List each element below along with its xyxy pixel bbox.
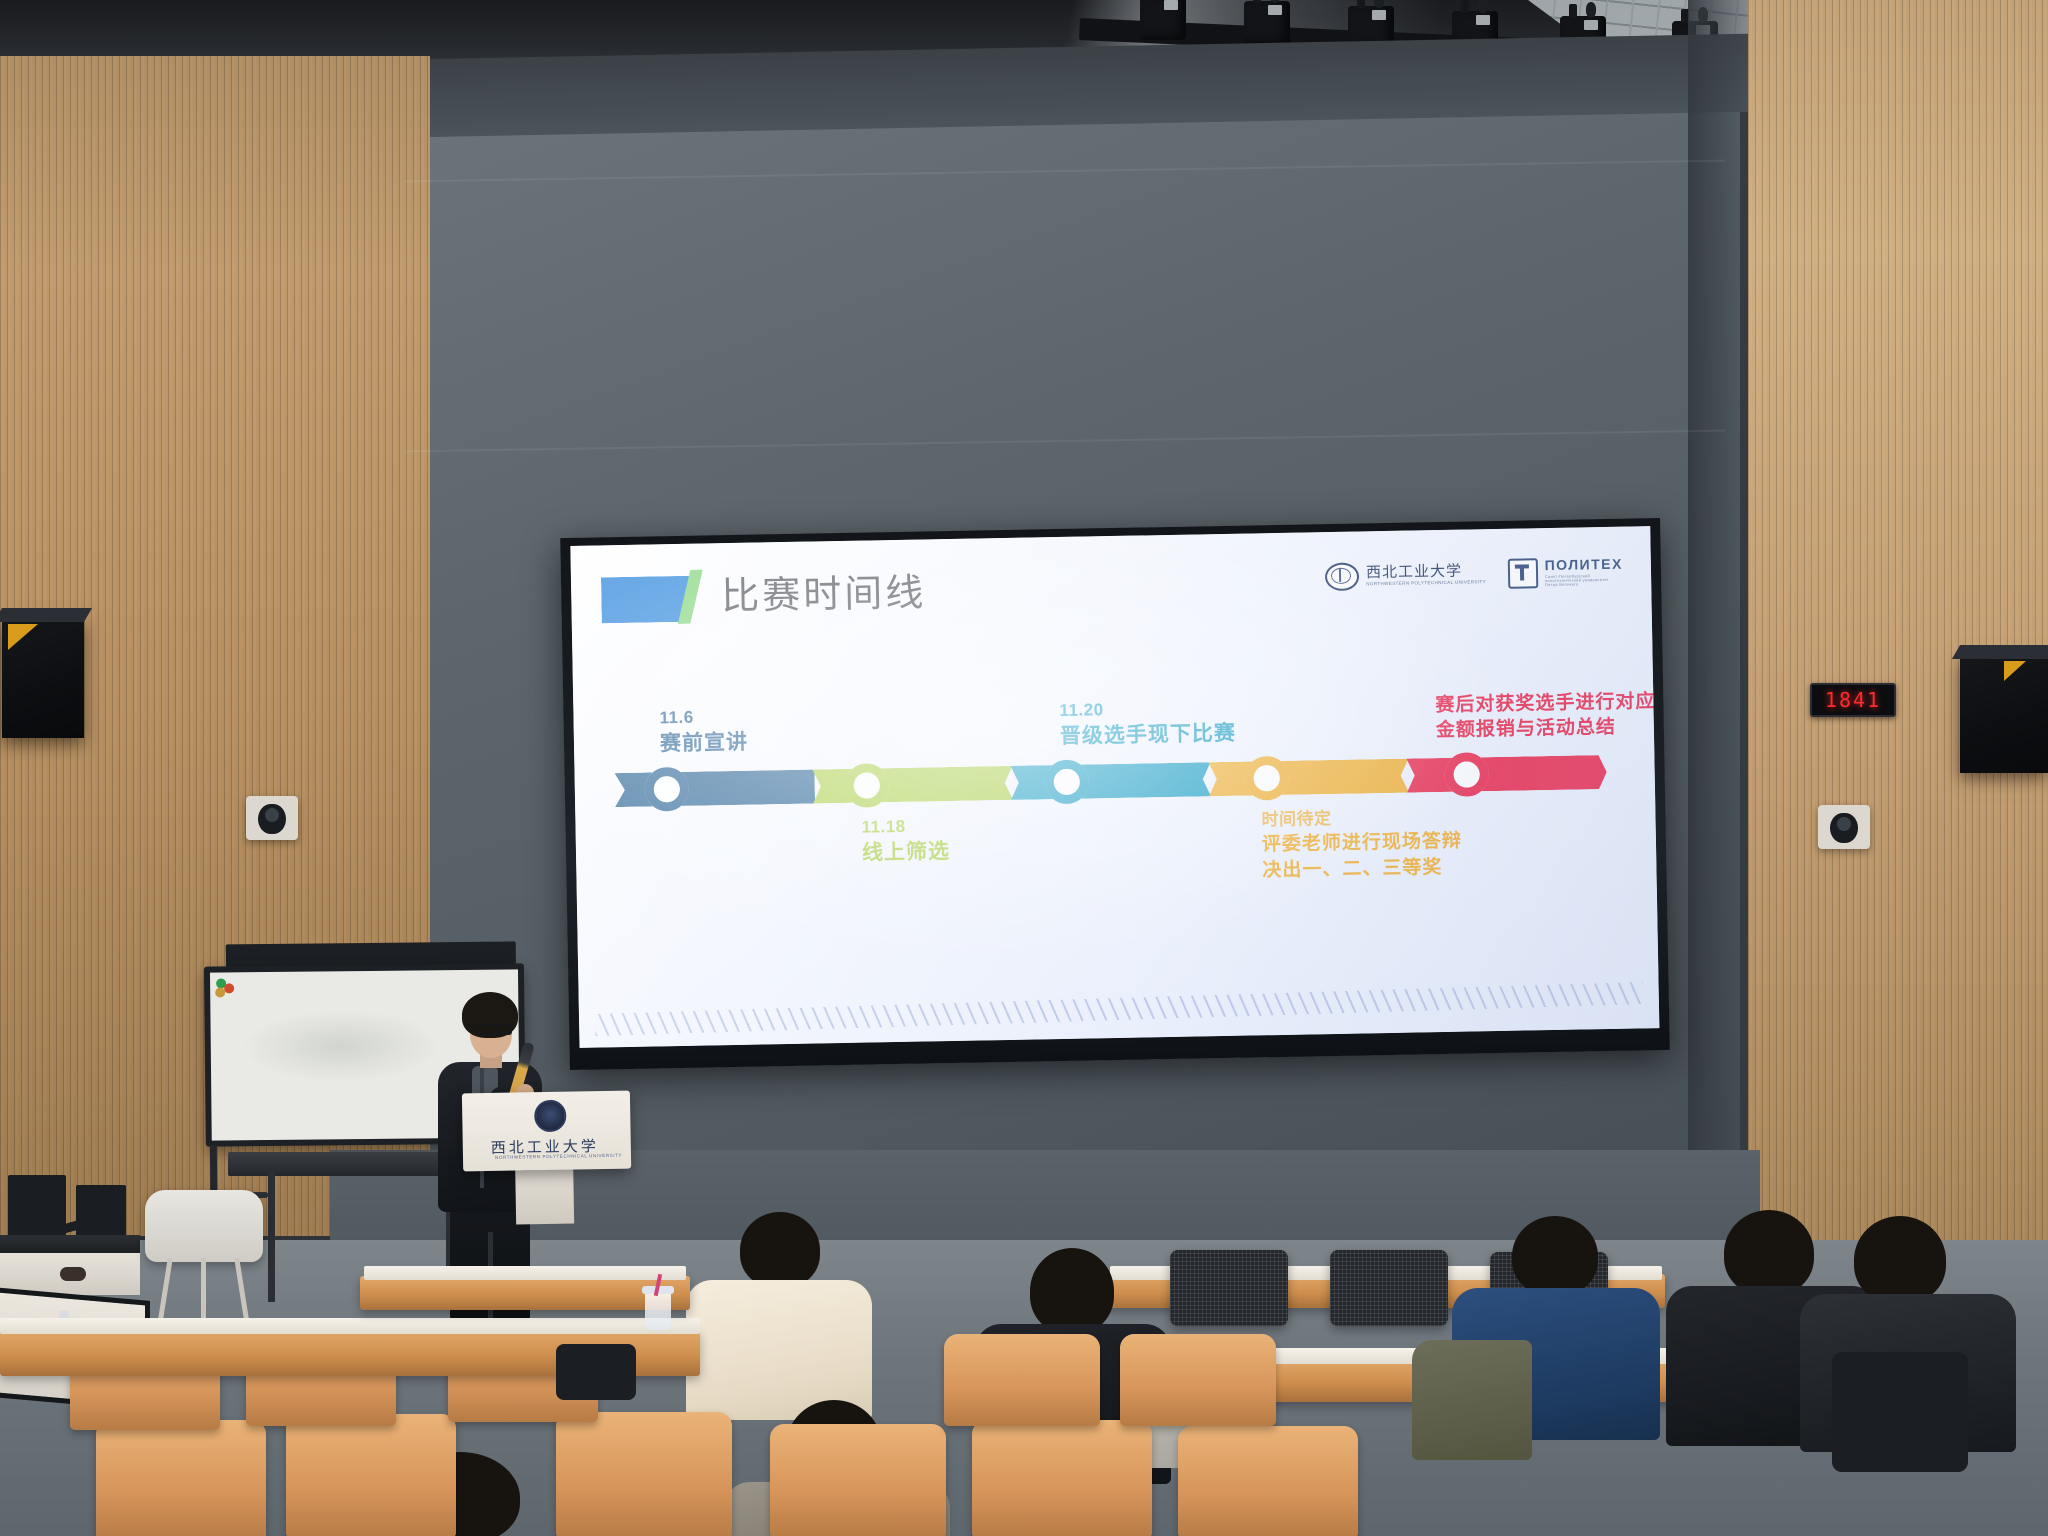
mesh-chair bbox=[1330, 1250, 1448, 1326]
right-wall-shadow bbox=[1688, 0, 1748, 1240]
timeline-description: 赛前宣讲 bbox=[660, 726, 890, 759]
polytech-logo: ПОЛИТЕХ Санкт-Петербургский политехничес… bbox=[1508, 557, 1624, 589]
auditorium-chair bbox=[972, 1420, 1152, 1536]
timeline-milestone: 11.6赛前宣讲 bbox=[659, 703, 890, 758]
slide-footer-hatch-pattern bbox=[595, 982, 1643, 1036]
presentation-slide: 比赛时间线 西北工业大学 NORTHWESTERN POLYTECHNICAL … bbox=[570, 526, 1659, 1048]
security-camera-left bbox=[246, 796, 298, 840]
slide-title: 比赛时间线 bbox=[721, 561, 927, 620]
timeline-description: 评委老师进行现场答辩决出一、二、三等奖 bbox=[1262, 829, 1463, 884]
audience-head bbox=[1030, 1248, 1114, 1334]
speaker-top bbox=[0, 608, 92, 622]
polytech-mark-icon bbox=[1508, 558, 1539, 589]
auditorium-chair bbox=[944, 1334, 1100, 1426]
desk-row bbox=[360, 1276, 690, 1310]
camera-lens-icon bbox=[265, 808, 279, 822]
audience-head bbox=[1724, 1210, 1814, 1296]
desk-surface bbox=[0, 1318, 700, 1334]
npu-logo: 西北工业大学 NORTHWESTERN POLYTECHNICAL UNIVER… bbox=[1325, 560, 1486, 591]
mesh-chair bbox=[1170, 1250, 1288, 1326]
timeline-description: 线上筛选 bbox=[862, 835, 1092, 868]
security-camera-right bbox=[1818, 805, 1870, 849]
timeline-segment bbox=[1406, 755, 1607, 793]
backpack bbox=[1832, 1352, 1968, 1472]
wall-speaker-left bbox=[2, 618, 84, 738]
camera-lens-icon bbox=[1837, 817, 1851, 831]
right-wood-wall bbox=[1748, 0, 2048, 1240]
screenshot-root: 1841 比赛时间线 西北工业大学 NORT bbox=[0, 0, 2048, 1536]
drink-cup bbox=[645, 1292, 671, 1330]
wall-digital-clock: 1841 bbox=[1810, 683, 1896, 717]
auditorium-chair bbox=[1120, 1334, 1276, 1426]
magnet-icon bbox=[215, 987, 225, 997]
projection-screen: 比赛时间线 西北工业大学 NORTHWESTERN POLYTECHNICAL … bbox=[560, 518, 1670, 1070]
clock-readout: 1841 bbox=[1825, 688, 1881, 712]
mouse-icon bbox=[60, 1267, 86, 1281]
npu-seal-icon bbox=[1325, 562, 1360, 591]
desk-surface bbox=[364, 1266, 686, 1280]
timeline-milestone: 赛后对获奖选手进行对应金额报销与活动总结 bbox=[1435, 689, 1659, 744]
speaker-top bbox=[1952, 645, 2048, 659]
polytech-logo-sub: Санкт-Петербургский политехнический унив… bbox=[1545, 574, 1623, 588]
stage-light-icon bbox=[1244, 1, 1290, 45]
timeline-description: 赛后对获奖选手进行对应金额报销与活动总结 bbox=[1435, 689, 1659, 744]
whiteboard-smudge bbox=[240, 1008, 441, 1084]
audience-body bbox=[1412, 1340, 1532, 1460]
timeline-segment bbox=[1208, 759, 1409, 797]
lectern-logo-en: NORTHWESTERN POLYTECHNICAL UNIVERSITY bbox=[495, 1153, 622, 1160]
polytech-sub-3: Петра Великого bbox=[1545, 582, 1623, 588]
lecture-hall: 1841 比赛时间线 西北工业大学 NORT bbox=[0, 0, 2048, 1536]
monitor-icon bbox=[76, 1185, 126, 1237]
desk-edge bbox=[0, 1235, 140, 1253]
auditorium-chair bbox=[96, 1420, 266, 1536]
screen-surface: 比赛时间线 西北工业大学 NORTHWESTERN POLYTECHNICAL … bbox=[570, 526, 1659, 1048]
timeline-graphic: 11.6赛前宣讲11.18线上筛选11.20晋级选手现下比赛时间待定评委老师进行… bbox=[615, 755, 1615, 807]
polytech-logo-text: ПОЛИТЕХ Санкт-Петербургский политехничес… bbox=[1545, 557, 1624, 588]
whiteboard-leg bbox=[210, 1145, 218, 1197]
auditorium-chair bbox=[286, 1414, 456, 1536]
timeline-milestone: 11.18线上筛选 bbox=[861, 812, 1092, 867]
timeline-segment bbox=[813, 766, 1014, 804]
timeline-milestone: 时间待定评委老师进行现场答辩决出一、二、三等奖 bbox=[1261, 806, 1462, 884]
stage-light-icon bbox=[1140, 0, 1186, 40]
lectern-stem bbox=[515, 1170, 574, 1225]
timeline-date: 时间待定 bbox=[1261, 806, 1461, 833]
timeline-segment bbox=[1010, 762, 1211, 800]
title-decoration bbox=[601, 569, 706, 623]
npu-seal-icon bbox=[534, 1100, 567, 1133]
slide-logos: 西北工业大学 NORTHWESTERN POLYTECHNICAL UNIVER… bbox=[1325, 557, 1623, 592]
auditorium-chair bbox=[1178, 1426, 1358, 1536]
lectern-panel: 西北工业大学 NORTHWESTERN POLYTECHNICAL UNIVER… bbox=[462, 1091, 631, 1172]
timeline-description: 晋级选手现下比赛 bbox=[1060, 718, 1290, 751]
audience-head bbox=[740, 1212, 820, 1288]
timeline-milestone: 11.20晋级选手现下比赛 bbox=[1059, 696, 1290, 751]
npu-logo-text: 西北工业大学 NORTHWESTERN POLYTECHNICAL UNIVER… bbox=[1366, 563, 1486, 587]
audience-body bbox=[686, 1280, 872, 1420]
polytech-logo-cn: ПОЛИТЕХ bbox=[1545, 557, 1623, 573]
auditorium-chair bbox=[556, 1412, 732, 1536]
audience-head bbox=[1854, 1216, 1946, 1304]
handbag bbox=[556, 1344, 636, 1400]
magnet-icon bbox=[224, 983, 234, 993]
bench-leg bbox=[268, 1172, 275, 1302]
speaker-brand-triangle-icon bbox=[2004, 661, 2026, 681]
stool-seat bbox=[145, 1190, 263, 1262]
audience-head bbox=[1512, 1216, 1598, 1296]
npu-logo-cn: 西北工业大学 bbox=[1366, 563, 1486, 580]
glasses-icon bbox=[478, 1024, 512, 1035]
speaker-brand-triangle-icon bbox=[8, 624, 38, 650]
wall-speaker-right bbox=[1960, 655, 2048, 773]
npu-logo-en: NORTHWESTERN POLYTECHNICAL UNIVERSITY bbox=[1366, 580, 1486, 587]
lectern: 西北工业大学 NORTHWESTERN POLYTECHNICAL UNIVER… bbox=[462, 1091, 632, 1224]
auditorium-chair bbox=[770, 1424, 946, 1536]
